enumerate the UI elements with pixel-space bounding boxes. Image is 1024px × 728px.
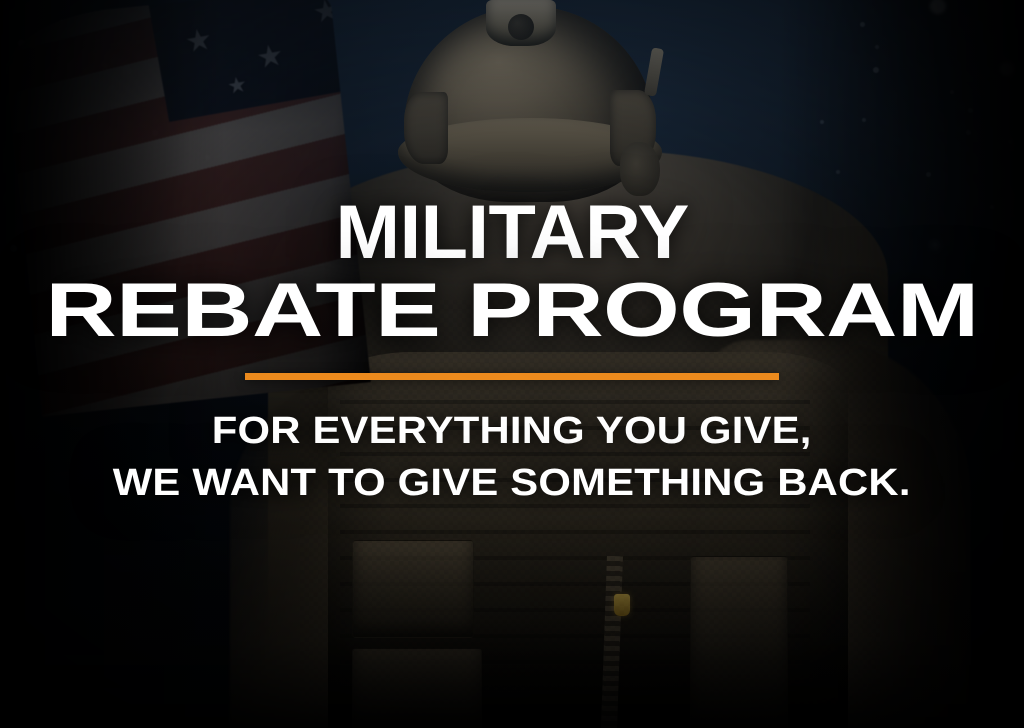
banner-content: MILITARY REBATE PROGRAM FOR EVERYTHING Y… <box>0 0 1024 728</box>
orange-divider <box>245 373 779 380</box>
subheadline-line-1: FOR EVERYTHING YOU GIVE, <box>212 412 812 450</box>
headline-line-2: REBATE PROGRAM <box>45 274 978 348</box>
subheadline-line-2: WE WANT TO GIVE SOMETHING BACK. <box>113 464 911 502</box>
headline-line-1: MILITARY <box>335 196 688 270</box>
military-rebate-banner: ★ ★ ★ ★ MILITARY REBATE PROGRAM FOR EVER… <box>0 0 1024 728</box>
